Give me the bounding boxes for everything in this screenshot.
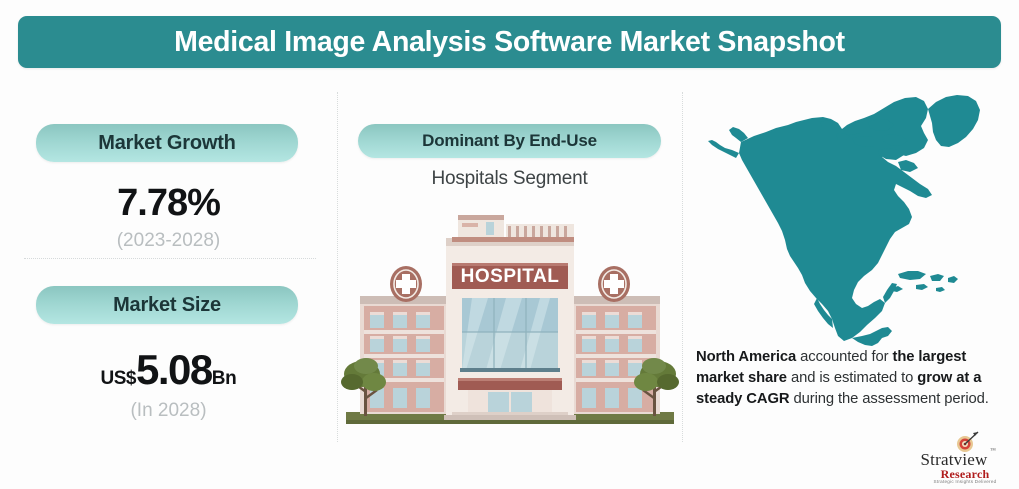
market-growth-label: Market Growth xyxy=(98,132,235,155)
note-plain: and is estimated to xyxy=(787,370,917,386)
note-text: North America accounted for the largest … xyxy=(696,349,989,407)
infographic-canvas: Medical Image Analysis Software Market S… xyxy=(0,0,1019,489)
note-plain: during the assessment period. xyxy=(789,391,988,407)
hospital-sign-text: HOSPITAL xyxy=(461,266,560,287)
left-column: Market Growth 7.78% (2023-2028) Market S… xyxy=(0,92,337,442)
hospital-illustration: HOSPITAL xyxy=(340,202,680,434)
dominant-end-use-pill: Dominant By End-Use xyxy=(358,124,661,158)
north-america-map xyxy=(692,92,1012,347)
note-emphasis: North America xyxy=(696,349,796,365)
logo-trademark: ™ xyxy=(990,448,996,454)
stratview-research-logo[interactable]: Stratview ™ Research Strategic Insights … xyxy=(908,434,1012,484)
market-size-value: US$5.08Bn xyxy=(0,346,337,394)
market-growth-period: (2023-2028) xyxy=(0,230,337,252)
market-size-unit: Bn xyxy=(212,368,237,389)
page-title: Medical Image Analysis Software Market S… xyxy=(174,26,845,59)
region-note: North America accounted for the largest … xyxy=(696,347,1008,410)
page-title-bar: Medical Image Analysis Software Market S… xyxy=(18,16,1001,68)
dominant-segment-text: Hospitals Segment xyxy=(337,168,682,190)
market-growth-pill: Market Growth xyxy=(36,124,298,162)
medical-cross-right xyxy=(598,266,630,302)
market-size-period: (In 2028) xyxy=(0,400,337,422)
market-size-number: 5.08 xyxy=(136,346,212,393)
market-size-currency: US$ xyxy=(101,368,136,389)
market-size-label: Market Size xyxy=(113,294,221,317)
market-growth-value: 7.78% xyxy=(0,182,337,225)
market-size-pill: Market Size xyxy=(36,286,298,324)
medical-cross-left xyxy=(390,266,422,302)
note-plain: accounted for xyxy=(796,349,892,365)
middle-column: Dominant By End-Use Hospitals Segment xyxy=(337,92,682,442)
dominant-end-use-label: Dominant By End-Use xyxy=(422,131,597,151)
logo-tagline: Strategic Insights Delivered xyxy=(922,479,1008,484)
